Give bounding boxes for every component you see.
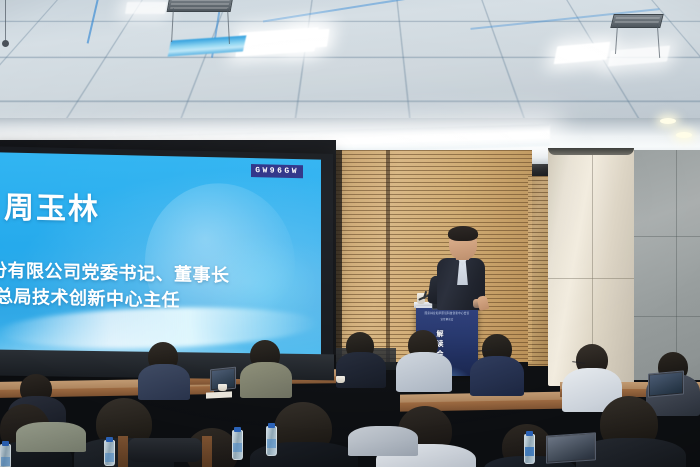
water-bottle — [524, 434, 535, 464]
chair-back — [128, 438, 202, 462]
wood-wall-edge — [336, 150, 342, 362]
water-bottle — [0, 444, 11, 467]
chair-frame — [202, 436, 212, 467]
speaker-hair — [448, 226, 478, 241]
ceiling-air-vent — [167, 0, 234, 12]
podium-banner-heading: 国家林业和草原局科技创新中心会议 — [419, 312, 475, 316]
stone-wall — [628, 150, 700, 380]
ceiling-light-panel — [290, 29, 329, 49]
attendee-torso — [470, 356, 524, 396]
wood-wall-seam — [386, 150, 390, 362]
column-cap — [548, 148, 634, 155]
water-bottle — [104, 440, 115, 466]
attendee-torso — [138, 364, 190, 400]
paper-document — [206, 391, 232, 398]
attendee-torso — [396, 352, 452, 392]
attendee-torso — [348, 426, 418, 456]
screen-speaker-name: 周玉林 — [4, 182, 100, 228]
water-bottle — [232, 430, 243, 460]
chair-frame — [118, 436, 128, 467]
projection-screen: 周玉林 院股份有限公司党委书记、董事长 管理总局技术创新中心主任 GW96GW — [0, 152, 321, 374]
recessed-downlight — [660, 118, 676, 124]
water-cup — [218, 384, 227, 391]
conference-room-photo: 周玉林 院股份有限公司党委书记、董事长 管理总局技术创新中心主任 GW96GW … — [0, 0, 700, 467]
attendee-torso — [240, 362, 292, 398]
attendee-laptop — [546, 432, 596, 463]
podium-banner-subheading: 宣传解读会 — [419, 318, 475, 322]
ceiling-air-vent — [610, 14, 663, 28]
ceiling-light-panel — [125, 2, 167, 14]
water-bottle — [266, 426, 277, 456]
recessed-downlight — [676, 132, 692, 138]
attendee-torso — [16, 422, 86, 452]
attendee-laptop — [648, 370, 684, 397]
water-cup — [336, 376, 345, 383]
screen-watermark: GW96GW — [251, 164, 303, 178]
